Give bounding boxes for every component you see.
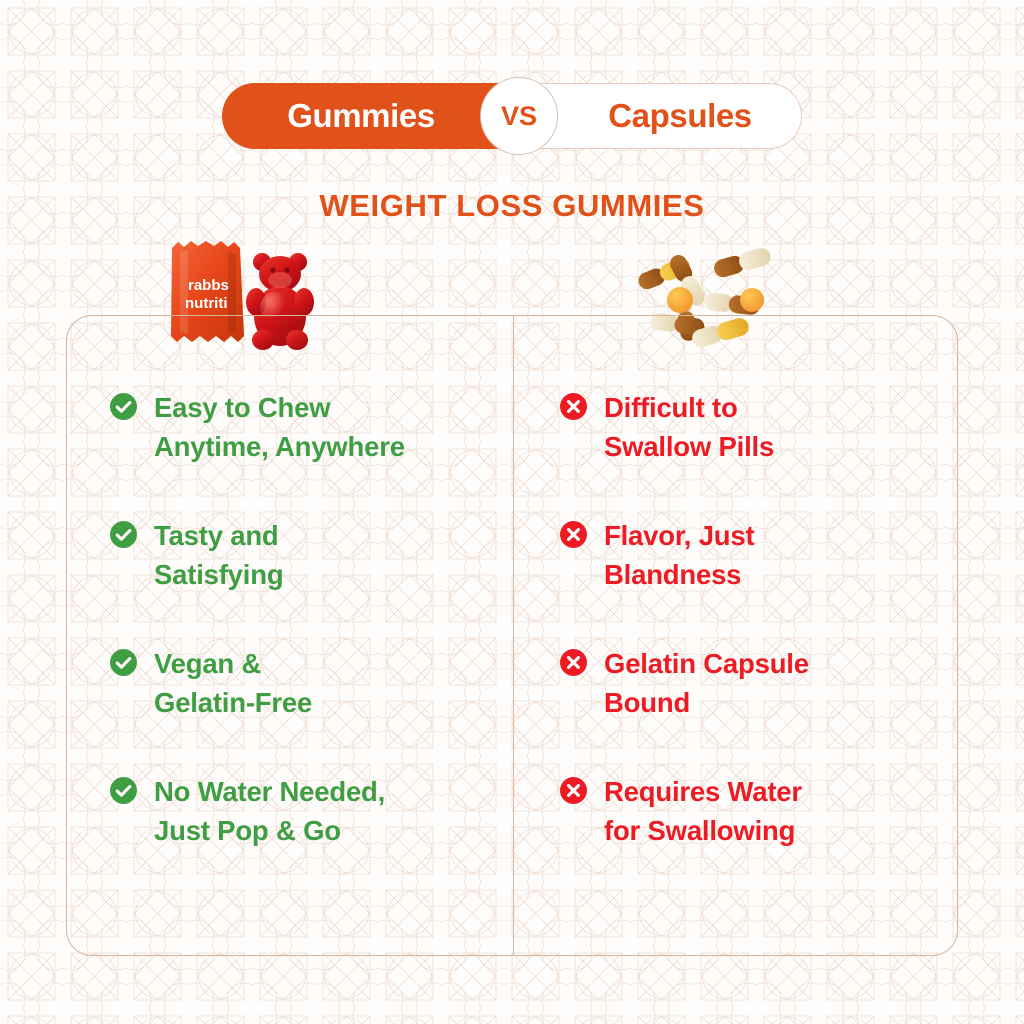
header-label-gummies: Gummies: [222, 83, 500, 149]
check-circle-icon: [110, 777, 137, 804]
versus-badge: VS: [480, 77, 558, 155]
list-item: Gelatin Capsule Bound: [560, 644, 960, 724]
x-circle-icon: [560, 393, 587, 420]
list-item-label: No Water Needed, Just Pop & Go: [154, 776, 385, 846]
list-item-label: Vegan & Gelatin-Free: [154, 648, 312, 718]
svg-text:nutriti: nutriti: [185, 295, 228, 312]
infographic-page: Gummies VS Capsules WEIGHT LOSS GUMMIES: [0, 0, 1024, 1024]
versus-header-bar: Gummies VS Capsules: [222, 83, 802, 149]
check-circle-icon: [110, 393, 137, 420]
list-item: Easy to Chew Anytime, Anywhere: [110, 388, 510, 468]
page-title: WEIGHT LOSS GUMMIES: [0, 188, 1024, 224]
list-item: Vegan & Gelatin-Free: [110, 644, 510, 724]
list-item-label: Flavor, Just Blandness: [604, 520, 754, 590]
list-item: Difficult to Swallow Pills: [560, 388, 960, 468]
list-item: Flavor, Just Blandness: [560, 516, 960, 596]
list-item-label: Difficult to Swallow Pills: [604, 392, 774, 462]
list-item-label: Tasty and Satisfying: [154, 520, 283, 590]
list-item: No Water Needed, Just Pop & Go: [110, 772, 510, 852]
capsules-drawbacks-column: Difficult to Swallow Pills Flavor, Just …: [560, 388, 960, 852]
x-circle-icon: [560, 649, 587, 676]
list-item-label: Requires Water for Swallowing: [604, 776, 802, 846]
check-circle-icon: [110, 649, 137, 676]
list-item: Tasty and Satisfying: [110, 516, 510, 596]
list-item-label: Easy to Chew Anytime, Anywhere: [154, 392, 405, 462]
gummies-benefits-column: Easy to Chew Anytime, Anywhere Tasty and…: [110, 388, 510, 852]
header-label-capsules: Capsules: [558, 83, 802, 149]
card-divider: [513, 316, 514, 955]
check-circle-icon: [110, 521, 137, 548]
x-circle-icon: [560, 777, 587, 804]
svg-text:rabbs: rabbs: [188, 277, 229, 294]
list-item-label: Gelatin Capsule Bound: [604, 648, 809, 718]
x-circle-icon: [560, 521, 587, 548]
list-item: Requires Water for Swallowing: [560, 772, 960, 852]
